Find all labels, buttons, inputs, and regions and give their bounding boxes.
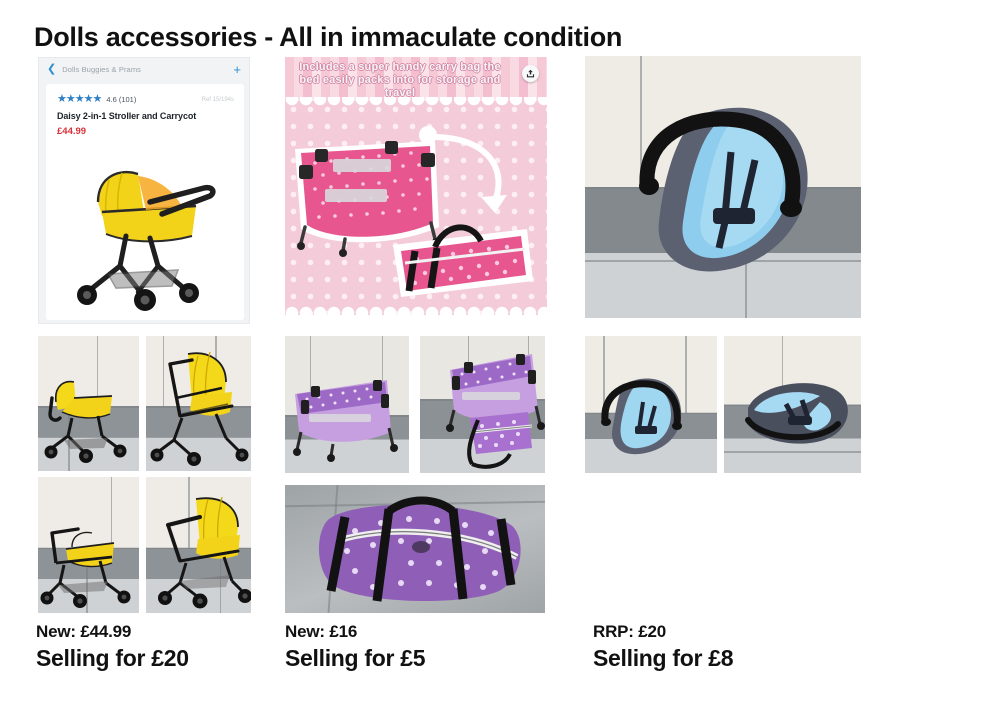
photo-stroller-seat-mode [146,336,251,471]
price-selling-label: Selling for £20 [36,645,189,672]
price-new-label: New: £16 [285,622,425,642]
star-rating-icon: ★★★★★ [57,94,101,105]
stroller-photo-illustration [38,477,139,613]
photo-car-seat-side [585,336,717,473]
travel-cot-photo-illustration [285,336,409,473]
rating-value: 4.6 (101) [106,95,136,104]
share-upload-glyph [526,69,535,78]
price-block-stroller: New: £44.99 Selling for £20 [36,622,189,672]
price-new-label: New: £44.99 [36,622,189,642]
car-seat-side-illustration [585,336,717,473]
rating-row: ★★★★★ 4.6 (101) Ref 15/194s [57,94,234,105]
stroller-illustration [46,140,244,320]
photo-car-seat-top [724,336,861,473]
pink-packaging-graphic: Includes a super handy carry bag the bed… [285,57,547,315]
photo-purple-travel-cot-with-bag [420,336,545,473]
product-image [46,140,244,320]
listing-card: ❮ Dolls Buggies & Prams + ★★★★★ 4.6 (101… [38,57,250,324]
photo-stroller-carrycot-side [38,336,139,471]
price-new-label: RRP: £20 [593,622,733,642]
listing-card-body: ★★★★★ 4.6 (101) Ref 15/194s Daisy 2-in-1… [46,84,244,320]
photo-purple-travel-cot-front [285,336,409,473]
plus-icon[interactable]: + [233,63,241,76]
price-selling-label: Selling for £5 [285,645,425,672]
photo-car-seat-main [585,56,861,318]
page-title: Dolls accessories - All in immaculate co… [34,22,622,53]
stroller-photo-illustration [38,336,139,471]
poster-canvas: Dolls accessories - All in immaculate co… [0,0,1000,707]
car-seat-top-illustration [724,336,861,473]
product-title: Daisy 2-in-1 Stroller and Carrycot [57,111,236,121]
breadcrumb[interactable]: Dolls Buggies & Prams [62,65,233,74]
price-block-car-seat: RRP: £20 Selling for £8 [593,622,733,672]
share-upload-icon[interactable] [522,65,539,82]
chevron-left-icon[interactable]: ❮ [47,64,56,75]
price-selling-label: Selling for £8 [593,645,733,672]
stroller-photo-illustration [146,336,251,471]
stroller-photo-illustration [146,477,251,613]
photo-stroller-carrycot-angle [38,477,139,613]
carry-bag-photo-illustration [285,485,545,613]
price-block-travel-cot: New: £16 Selling for £5 [285,622,425,672]
photo-purple-floral-carry-bag [285,485,545,613]
photo-stroller-seat-angle [146,477,251,613]
travel-cot-and-bag-photo-illustration [420,336,545,473]
listing-card-navbar: ❮ Dolls Buggies & Prams + [39,58,249,80]
reference-code: Ref 15/194s [202,97,234,103]
product-price: £44.99 [57,126,86,137]
promo-text: Includes a super handy carry bag the bed… [293,61,507,100]
travel-cot-illustration [285,101,547,315]
car-seat-illustration [585,56,861,318]
